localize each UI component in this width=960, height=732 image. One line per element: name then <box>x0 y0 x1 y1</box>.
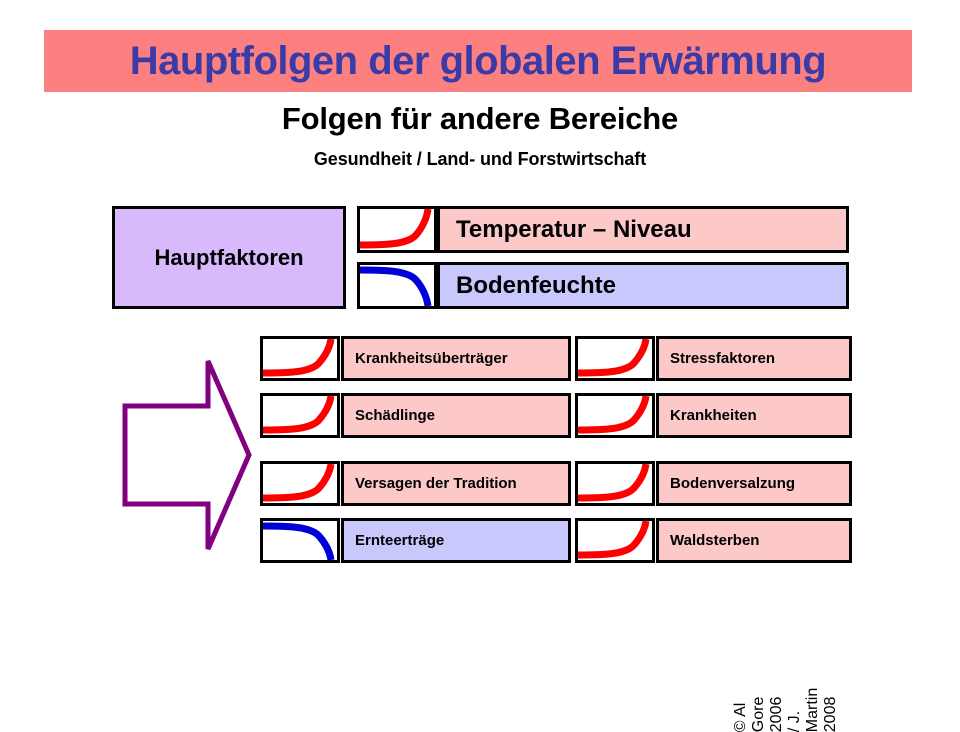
subtitle-secondary: Gesundheit / Land- und Forstwirtschaft <box>0 149 960 170</box>
effect-label: Krankheitsüberträger <box>344 350 508 367</box>
driver-box-bodenfeuchte: Bodenfeuchte <box>437 262 849 309</box>
copyright-notice: © Al Gore 2006 / J. Martin 2008 <box>732 688 840 732</box>
effect-label: Bodenversalzung <box>659 475 795 492</box>
effect-box-stressfaktoren: Stressfaktoren <box>656 336 852 381</box>
subtitle-primary: Folgen für andere Bereiche <box>0 103 960 136</box>
copyright-container: © Al Gore 2006 / J. Martin 2008 <box>936 490 960 710</box>
falling-curve-icon <box>260 518 340 563</box>
effect-box-versagen-der-tradition: Versagen der Tradition <box>341 461 571 506</box>
main-factors-label: Hauptfaktoren <box>154 245 303 271</box>
right-arrow-outline-icon <box>120 356 254 554</box>
effect-label: Versagen der Tradition <box>344 475 517 492</box>
rising-curve-icon <box>575 336 655 381</box>
effect-label: Waldsterben <box>659 532 759 549</box>
effect-label: Stressfaktoren <box>659 350 775 367</box>
driver-label: Bodenfeuchte <box>440 272 616 300</box>
effect-box-schaedlinge: Schädlinge <box>341 393 571 438</box>
rising-curve-icon <box>575 393 655 438</box>
title-banner: Hauptfolgen der globalen Erwärmung <box>44 30 912 92</box>
rising-curve-icon <box>575 518 655 563</box>
main-factors-box: Hauptfaktoren <box>112 206 346 309</box>
effect-label: Krankheiten <box>659 407 757 424</box>
effect-box-krankheitsuebertraeger: Krankheitsüberträger <box>341 336 571 381</box>
falling-curve-icon <box>357 262 437 309</box>
rising-curve-icon <box>575 461 655 506</box>
effect-box-waldsterben: Waldsterben <box>656 518 852 563</box>
effect-label: Schädlinge <box>344 407 435 424</box>
effect-label: Ernteerträge <box>344 532 444 549</box>
effect-box-bodenversalzung: Bodenversalzung <box>656 461 852 506</box>
rising-curve-icon <box>260 393 340 438</box>
rising-curve-icon <box>260 336 340 381</box>
driver-label: Temperatur – Niveau <box>440 216 692 244</box>
effect-box-ernteertraege: Ernteerträge <box>341 518 571 563</box>
driver-box-temperatur: Temperatur – Niveau <box>437 206 849 253</box>
slide-canvas: Hauptfolgen der globalen Erwärmung Folge… <box>0 0 960 720</box>
effect-box-krankheiten: Krankheiten <box>656 393 852 438</box>
page-title: Hauptfolgen der globalen Erwärmung <box>130 41 826 81</box>
rising-curve-icon <box>260 461 340 506</box>
rising-curve-icon <box>357 206 437 253</box>
